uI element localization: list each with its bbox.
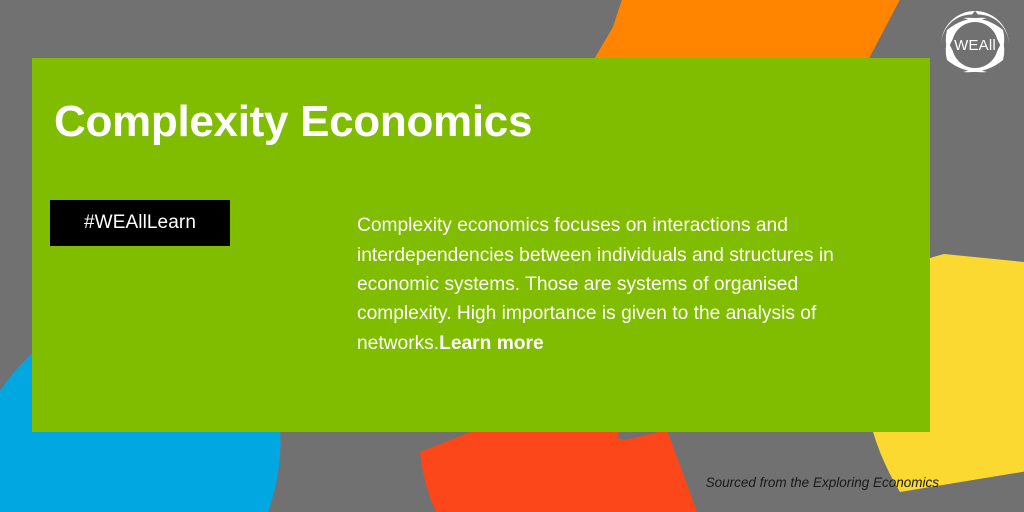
- hashtag-badge-label: #WEAllLearn: [84, 212, 196, 234]
- hashtag-badge[interactable]: #WEAllLearn: [50, 200, 230, 246]
- logo-text: WEAll: [954, 37, 996, 54]
- learn-more-link[interactable]: Learn more: [439, 333, 544, 354]
- body-text-content: Complexity economics focuses on interact…: [357, 215, 834, 354]
- footer-credit: Sourced from the Exploring Economics: [706, 475, 939, 490]
- social-card: Complexity Economics #WEAllLearn Complex…: [0, 0, 1024, 512]
- weall-logo[interactable]: WEAll: [938, 8, 1012, 82]
- page-title: Complexity Economics: [54, 99, 532, 145]
- body-text: Complexity economics focuses on interact…: [357, 211, 877, 358]
